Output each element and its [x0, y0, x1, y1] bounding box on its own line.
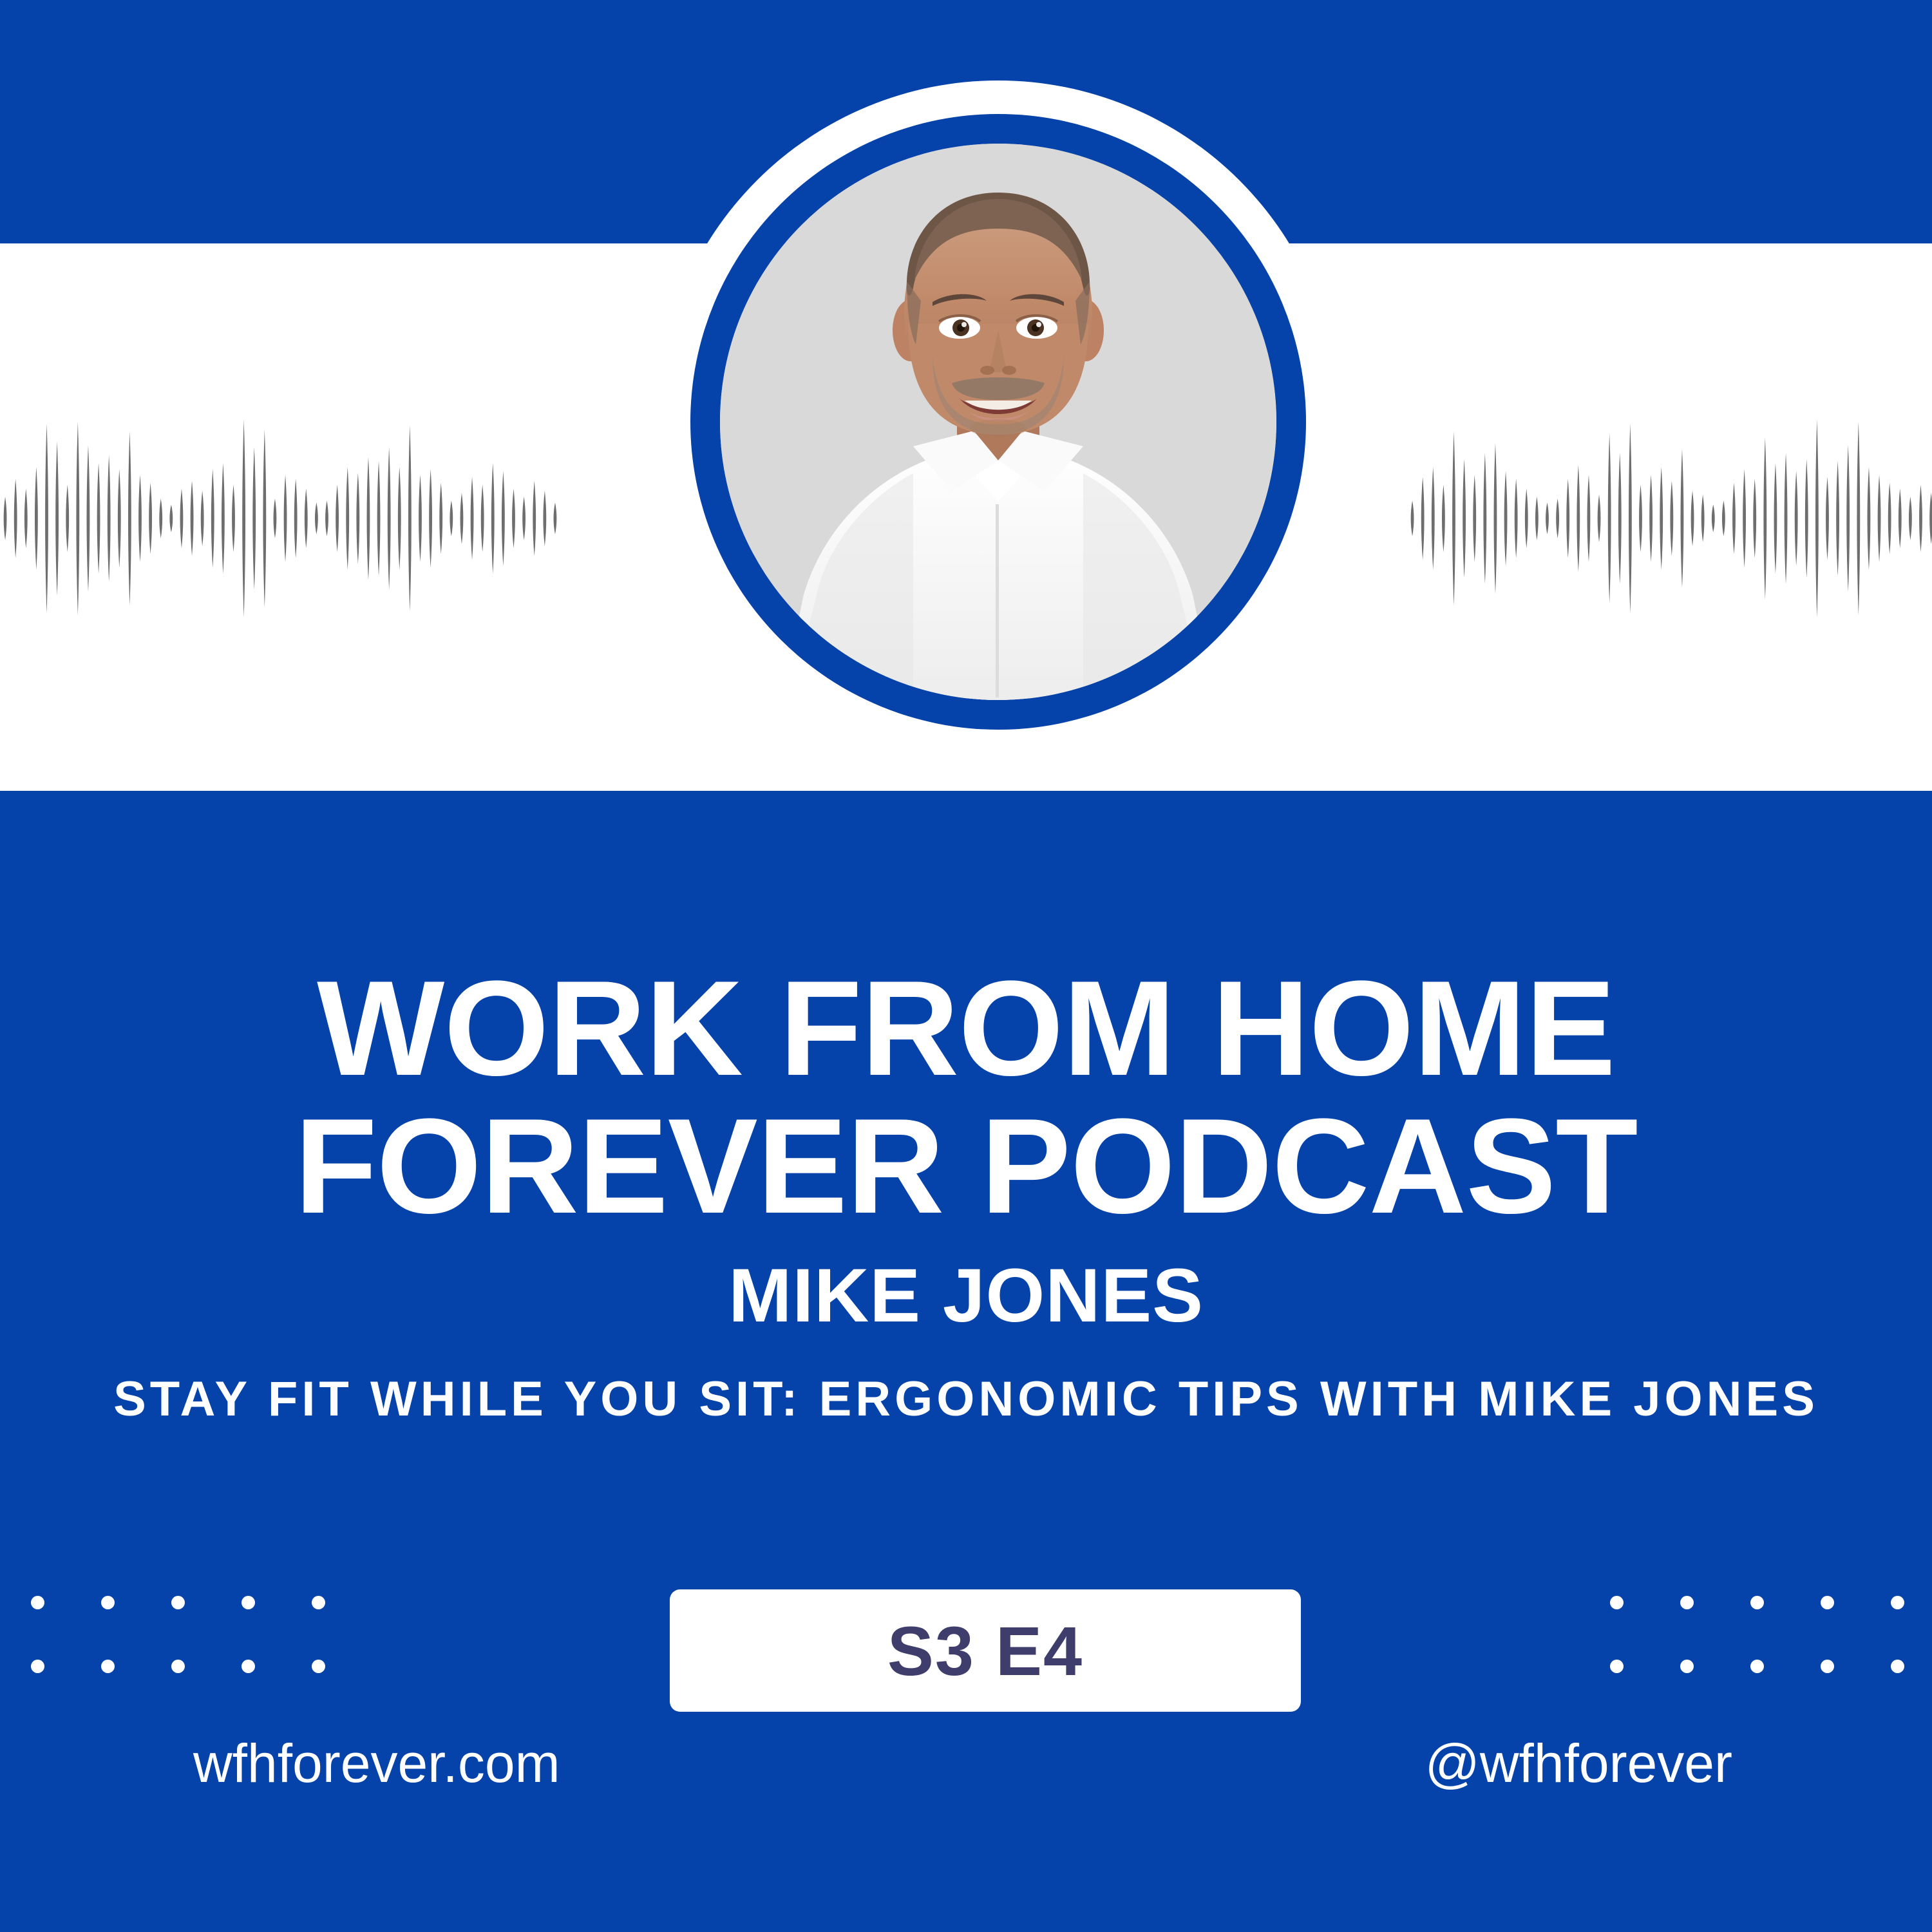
dot: [31, 1660, 44, 1673]
website-url: wfhforever.com: [193, 1732, 560, 1795]
dot-grid-decoration-right: [1610, 1596, 1932, 1686]
episode-title: STAY FIT WHILE YOU SIT: ERGONOMIC TIPS W…: [77, 1368, 1855, 1430]
show-title-line-1: WORK FROM HOME: [116, 960, 1816, 1097]
dot: [1891, 1660, 1904, 1673]
dot: [1821, 1596, 1834, 1609]
avatar: [657, 80, 1340, 763]
episode-number-label: S3 E4: [887, 1611, 1083, 1691]
dot: [1891, 1596, 1904, 1609]
host-portrait-photo: [720, 144, 1276, 700]
dot: [241, 1596, 255, 1609]
host-name: MIKE JONES: [0, 1252, 1932, 1340]
dot: [1680, 1660, 1694, 1673]
page-title: WORK FROM HOME FOREVER PODCAST: [0, 960, 1932, 1235]
dot-row: [31, 1660, 392, 1673]
dot-row: [31, 1596, 392, 1609]
dot: [101, 1660, 115, 1673]
dot: [241, 1660, 255, 1673]
dot: [1750, 1596, 1764, 1609]
dot: [1610, 1596, 1624, 1609]
dot: [101, 1596, 115, 1609]
audio-waveform-icon-left: [0, 415, 560, 621]
status-badge: S3 E4: [670, 1589, 1301, 1712]
dot: [312, 1660, 325, 1673]
dot: [171, 1660, 185, 1673]
dot-grid-decoration-left: [31, 1596, 392, 1686]
dot: [31, 1596, 44, 1609]
social-handle: @wfhforever: [1425, 1732, 1732, 1795]
dot-row: [1610, 1596, 1932, 1609]
dot: [1821, 1660, 1834, 1673]
dot-row: [1610, 1660, 1932, 1673]
dot: [312, 1596, 325, 1609]
dot: [171, 1596, 185, 1609]
show-title-line-2: FOREVER PODCAST: [116, 1097, 1816, 1235]
audio-waveform-icon-right: [1407, 415, 1932, 621]
dot: [1610, 1660, 1624, 1673]
dot: [1680, 1596, 1694, 1609]
podcast-cover-art: WORK FROM HOME FOREVER PODCAST MIKE JONE…: [0, 0, 1932, 1932]
title-block: WORK FROM HOME FOREVER PODCAST MIKE JONE…: [0, 960, 1932, 1431]
dot: [1750, 1660, 1764, 1673]
